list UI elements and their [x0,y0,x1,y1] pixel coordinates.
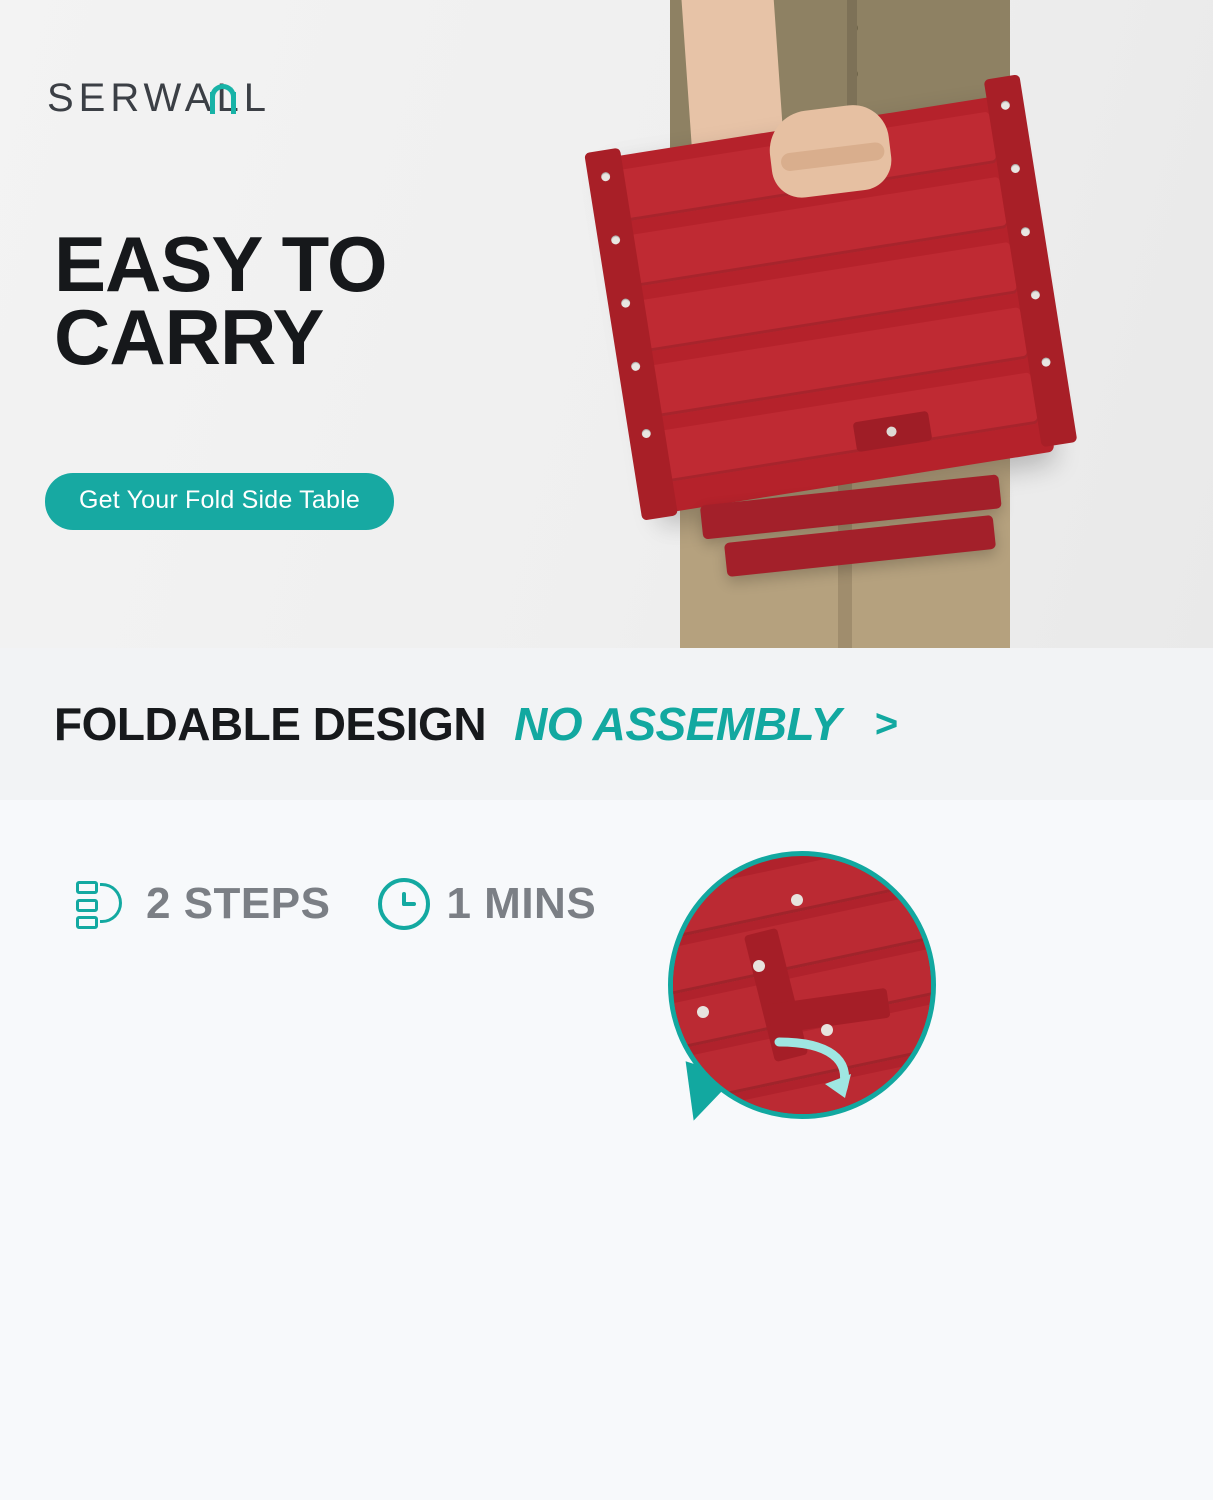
steps-icon [76,878,130,930]
foldable-design-banner: FOLDABLE DESIGN NO ASSEMBLY > [0,648,1213,800]
stat-steps: 2 STEPS [76,878,330,930]
cta-pill[interactable]: Get Your Fold Side Table [45,473,394,530]
rotate-arrow-icon [773,1036,857,1106]
page-title: EASY TO CARRY [54,228,387,375]
clock-icon [378,878,430,930]
marketing-image: SERWALL EASY TO CARRY Get Your Fold Side… [0,0,1213,1500]
chevron-right-icon[interactable]: > [875,702,898,747]
stat-steps-label: 2 STEPS [146,879,330,929]
hero-product-photo [560,0,1213,648]
steps-panel: 2 STEPS 1 MINS [0,800,1213,1500]
headline-line-2: CARRY [54,301,387,374]
stat-time: 1 MINS [378,878,596,930]
banner-title: FOLDABLE DESIGN [54,697,486,751]
banner-accent: NO ASSEMBLY [514,697,841,751]
brand-name: SERWALL [47,78,271,118]
brand-logo: SERWALL [47,78,271,118]
headline-line-1: EASY TO [54,228,387,301]
stats-row: 2 STEPS 1 MINS [76,878,596,930]
hinge-detail-callout [668,851,936,1119]
stat-time-label: 1 MINS [446,879,596,929]
top-hero-panel: SERWALL EASY TO CARRY Get Your Fold Side… [0,0,1213,648]
brand-arch-icon [210,84,236,114]
